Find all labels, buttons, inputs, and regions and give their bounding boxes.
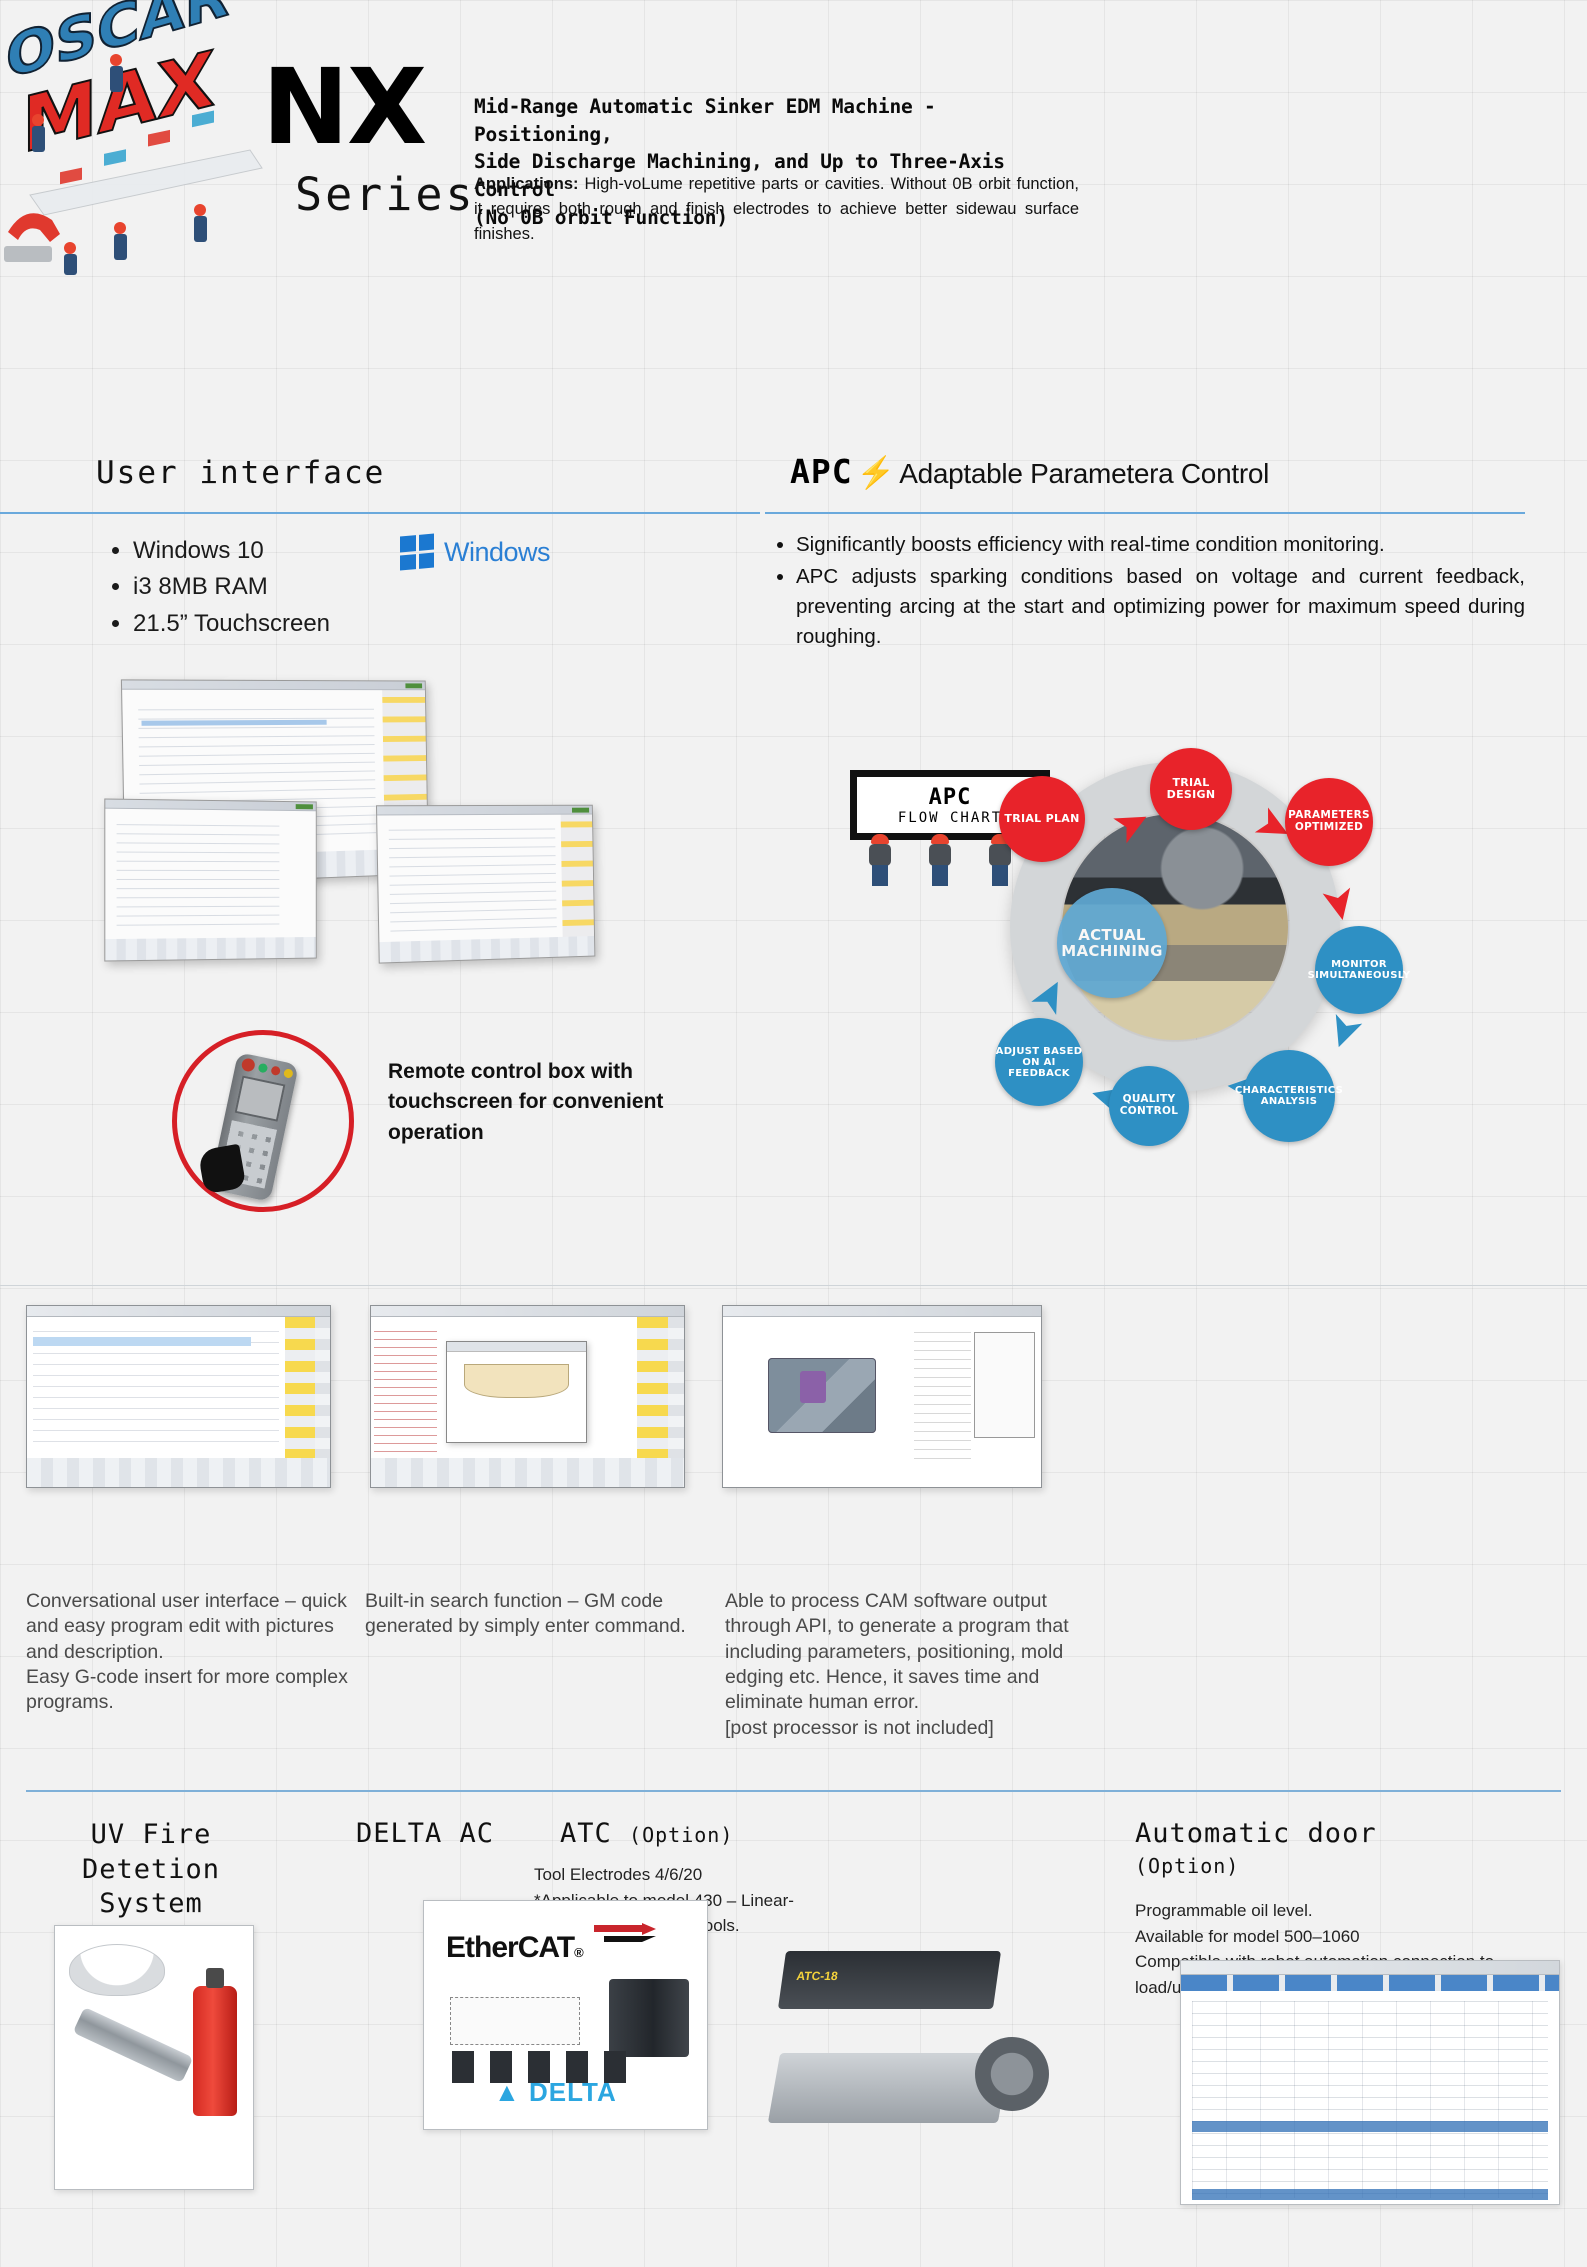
auto-door-option-tag: (Option): [1135, 1854, 1239, 1878]
pendant-screen: [235, 1075, 286, 1121]
atc-magazine-image: [778, 1951, 1001, 2009]
applications-paragraph: Applications: High-voLume repetitive par…: [474, 172, 1079, 248]
dialog-titlebar: [447, 1342, 586, 1352]
screenshot-titlebar: [723, 1306, 1041, 1317]
table-row: [1192, 2189, 1547, 2200]
screenshot-toolbar: [371, 1458, 684, 1487]
apc-bullet-list: Significantly boosts efficiency with rea…: [770, 530, 1525, 654]
remote-control-callout-circle: [172, 1030, 354, 1212]
list-item: Significantly boosts efficiency with rea…: [796, 530, 1525, 560]
series-title: Series: [295, 168, 476, 221]
apc-divider: [765, 512, 1525, 514]
headline-line-1: Mid-Range Automatic Sinker EDM Machine -…: [474, 93, 1079, 148]
option-title-atc: ATC (Option): [560, 1818, 860, 1849]
worker-figure: [867, 834, 893, 886]
apc-flow-chart: APC FLOW CHART ➤ ➤ ➤ ➤ ➤ ➤ ➤ ➤ TRIAL PLA…: [845, 760, 1545, 1130]
windows-label: Windows: [444, 537, 550, 568]
list-item: i3 8MB RAM: [133, 569, 505, 605]
arrow-icon: ➤: [1317, 883, 1363, 924]
feature-caption: Able to process CAM software output thro…: [725, 1589, 1085, 1741]
arrow-icon: ➤: [1320, 1009, 1369, 1054]
sign-subtitle: FLOW CHART: [898, 810, 1002, 826]
flow-node-parameters-optimized: PARAMETERS OPTIMIZED: [1285, 778, 1373, 866]
worker-figure: [927, 834, 953, 886]
mid-section-divider: [0, 1285, 1587, 1286]
photo-atc-tool-changer: [764, 1945, 1059, 2170]
user-interface-heading: User interface: [96, 455, 385, 491]
atc-label: ATC: [560, 1818, 612, 1849]
ethercat-arrow-icon: [594, 1923, 656, 1945]
screenshot-body: [105, 809, 315, 961]
screenshot-body: [27, 1317, 330, 1487]
user-interface-divider: [0, 512, 760, 514]
option-title-automatic-door: Automatic door (Option): [1135, 1818, 1495, 1880]
table-row: [1192, 2121, 1547, 2132]
screenshot-body: [723, 1317, 1041, 1487]
photo-automatic-door-screen: [1180, 1960, 1560, 2205]
screenshot-body: [371, 1317, 684, 1487]
feature-screenshot-cam-api: [722, 1305, 1042, 1488]
feature-screenshot-conversational-ui: [26, 1305, 331, 1488]
screenshot-table: [1192, 2001, 1547, 2198]
screenshot-titlebar: [27, 1306, 330, 1317]
screenshot-selected-row: [33, 1337, 251, 1346]
screenshot-toolbar: [27, 1458, 330, 1487]
screenshot-titlebar: [371, 1306, 684, 1317]
flow-node-actual-machining: ACTUAL MACHINING: [1057, 888, 1167, 998]
photo-delta-ethercat: EtherCAT® ▲ DELTA: [423, 1900, 708, 2130]
flow-node-quality-control: QUALITY CONTROL: [1109, 1066, 1189, 1146]
screenshot-tree-panel: [914, 1332, 971, 1460]
delta-logo: ▲ DELTA: [494, 2077, 617, 2108]
flow-node-trial-design: TRIAL DESIGN: [1150, 748, 1232, 830]
apc-heading: APC ⚡ Adaptable Parametera Control: [790, 452, 1269, 491]
oscar-max-logo: OSCAR MAX: [0, 0, 270, 275]
photo-uv-fire-detection: [54, 1925, 254, 2190]
fire-extinguisher-icon: [193, 1986, 237, 2116]
dialog-preview-shape: [464, 1364, 570, 1398]
screenshot-table: [33, 1331, 278, 1450]
screenshot-titlebar: [122, 680, 425, 690]
remote-control-caption: Remote control box with touchscreen for …: [388, 1057, 688, 1148]
windows-icon: [400, 534, 434, 571]
lightning-bolt-icon: ⚡: [857, 454, 896, 491]
uv-probe-icon: [73, 2007, 194, 2083]
feature-caption: Built-in search function – GM code gener…: [365, 1589, 695, 1640]
flow-node-adjust-based-on-ai-feedback: ADJUST BASED ON AI FEEDBACK: [995, 1018, 1083, 1106]
feature-screenshot-search-gm-code: [370, 1305, 685, 1488]
auto-door-label: Automatic door: [1135, 1818, 1377, 1849]
servo-drives-image: [609, 1979, 689, 2057]
flow-node-characteristics-analysis: CHARACTERISTICS ANALYSIS: [1243, 1050, 1335, 1142]
screenshot-titlebar: [1181, 1961, 1559, 1975]
screenshot-content-lines: [389, 829, 557, 933]
smoke-detector-icon: [69, 1944, 165, 1996]
cad-model-preview: [768, 1358, 876, 1433]
list-item: 21.5” Touchscreen: [133, 606, 505, 642]
ui-screenshot-single-axis: [376, 805, 595, 964]
atc-head-image: [975, 2037, 1049, 2111]
applications-label: Applications:: [474, 175, 579, 193]
windows-logo: Windows: [400, 535, 550, 569]
sign-title: APC: [929, 785, 972, 810]
screenshot-bottom-strip: [105, 937, 315, 960]
screenshot-body: [377, 815, 594, 963]
ethercat-logo: EtherCAT®: [446, 1931, 583, 1965]
screenshot-dialog: [974, 1332, 1034, 1437]
screenshot-code-column: [374, 1331, 437, 1453]
flow-node-trial-plan: TRIAL PLAN: [999, 776, 1085, 862]
screenshot-content-lines: [116, 824, 279, 930]
screenshot-dialog: [446, 1341, 587, 1443]
option-title-uv-fire-detection: UV Fire Detetion System: [26, 1818, 276, 1922]
bottom-section-divider: [26, 1790, 1561, 1792]
list-item: APC adjusts sparking conditions based on…: [796, 562, 1525, 652]
atc-option-tag: (Option): [629, 1823, 733, 1847]
option-title-delta-ac: DELTA AC: [300, 1818, 550, 1849]
screenshot-tabs: [1181, 1975, 1559, 1991]
ui-screenshot-settings: [104, 798, 316, 961]
feature-caption: Conversational user interface – quick an…: [26, 1589, 356, 1716]
apc-acronym: APC: [790, 452, 853, 491]
model-title: NX: [262, 62, 472, 154]
screenshot-bottom-strip: [379, 936, 594, 963]
apc-subtitle: Adaptable Parametera Control: [899, 458, 1269, 490]
flow-node-monitor-simultaneously: MONITOR SIMULTANEOUSLY: [1315, 926, 1403, 1014]
atc-base-image: [768, 2053, 1010, 2123]
network-schematic: [450, 1997, 580, 2045]
poster-page: OSCAR MAX NX Series: [0, 0, 1587, 2267]
